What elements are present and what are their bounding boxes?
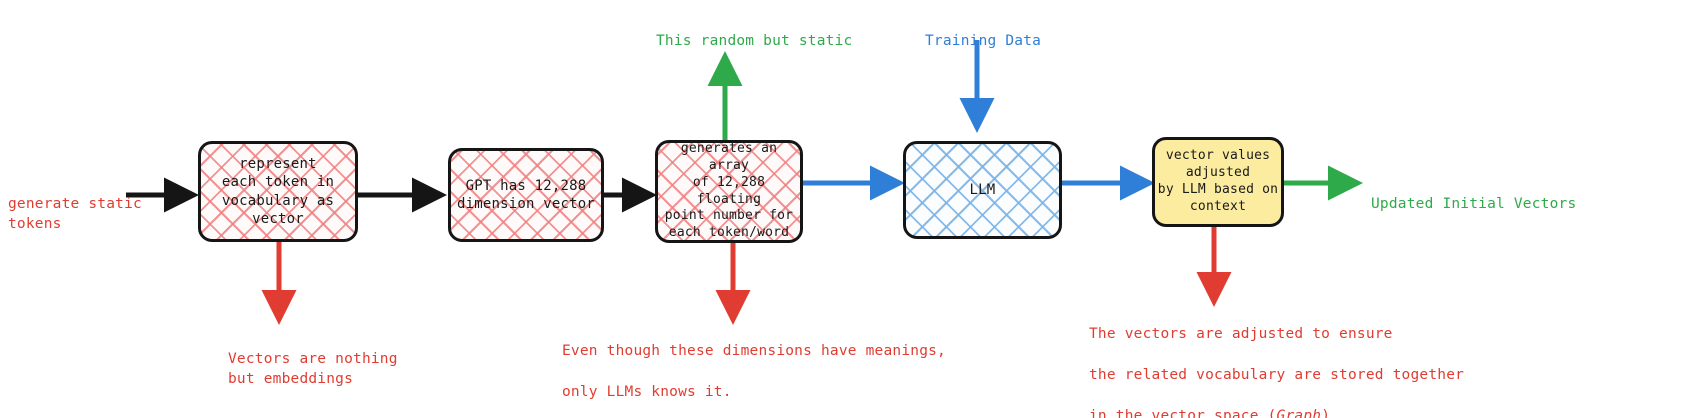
label-updated-initial-vectors-text: Updated Initial Vectors [1371,194,1576,215]
node-gpt-dimensions[interactable]: GPT has 12,288 dimension vector [448,148,604,242]
note-vectors-adjusted: The vectors are adjusted to ensure the r… [1089,303,1518,418]
note-dimensions-meanings: Even though these dimensions have meanin… [562,320,946,418]
label-random-but-static-text: This random but static [656,31,852,52]
node-represent-tokens[interactable]: represent each token in vocabulary as ve… [198,141,358,242]
label-input-tokens: generate static tokens [8,173,168,255]
note-vectors-are-embeddings: Vectors are nothing but embeddings [228,328,398,410]
label-training-data-text: Training Data [925,31,1041,52]
node-generates-array[interactable]: generates an array of 12,288 floating po… [655,140,803,243]
label-training-data: Training Data [925,10,1041,72]
note-vectors-adjusted-line-3-pre: in the vector space ( [1089,408,1277,418]
note-dimensions-line-1: Even though these dimensions have meanin… [562,341,946,362]
note-vectors-adjusted-line-1: The vectors are adjusted to ensure [1089,324,1518,345]
node-generates-array-label: generates an array of 12,288 floating po… [658,141,800,242]
node-llm[interactable]: LLM [903,141,1062,239]
label-random-but-static: This random but static [656,10,852,72]
node-gpt-dimensions-label: GPT has 12,288 dimension vector [457,177,595,213]
node-llm-label: LLM [970,181,996,199]
note-vectors-adjusted-line-3-emphasis: Graph [1277,408,1322,418]
note-dimensions-line-2: only LLMs knows it. [562,382,946,403]
note-vectors-adjusted-line-2: the related vocabulary are stored togeth… [1089,365,1518,386]
node-represent-tokens-label: represent each token in vocabulary as ve… [222,155,334,228]
label-input-tokens-text: generate static tokens [8,194,168,235]
label-updated-initial-vectors: Updated Initial Vectors [1371,173,1576,235]
node-vector-adjusted[interactable]: vector values adjusted by LLM based on c… [1152,137,1284,227]
note-vectors-are-embeddings-text: Vectors are nothing but embeddings [228,349,398,390]
diagram-canvas: represent each token in vocabulary as ve… [0,0,1693,418]
node-vector-adjusted-label: vector values adjusted by LLM based on c… [1158,148,1278,216]
note-vectors-adjusted-line-3-post: ) [1321,408,1330,418]
note-vectors-adjusted-line-3: in the vector space (Graph) [1089,406,1518,418]
